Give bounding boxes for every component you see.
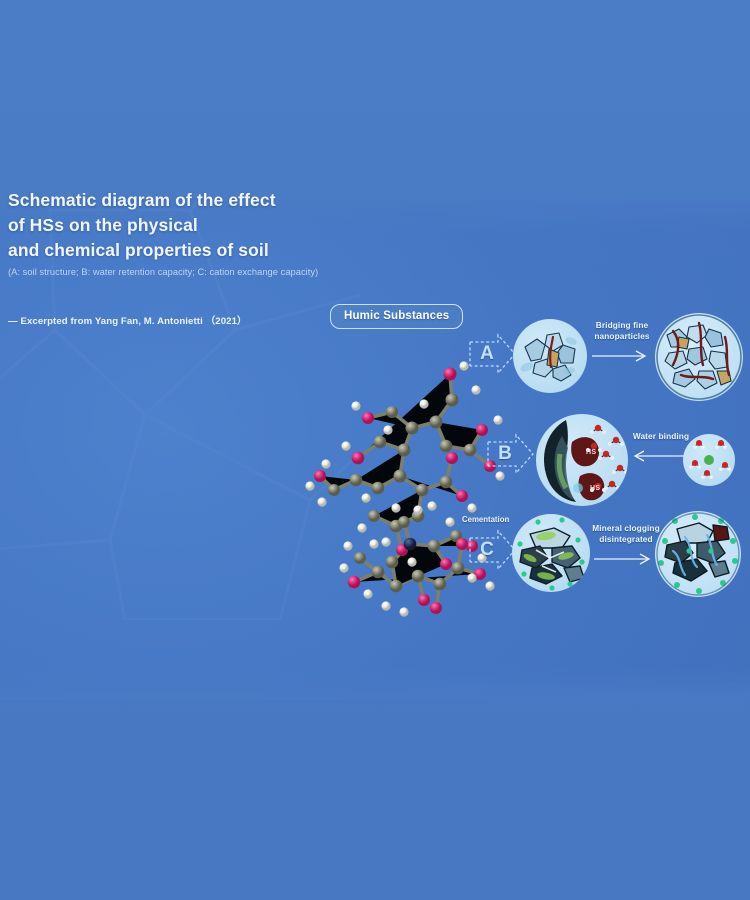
- panel-tag-a-letter: A: [468, 332, 506, 376]
- panel-tag-a: A: [468, 332, 518, 376]
- panel-c-after-circle: [655, 511, 741, 597]
- panel-c-process-label: Mineral clogging disintegrated: [586, 523, 666, 544]
- panel-tag-b-letter: B: [486, 432, 524, 476]
- panel-c-arrow-icon: [594, 551, 656, 567]
- panel-a-before-circle: [513, 319, 587, 393]
- panel-tag-c: C: [468, 528, 518, 572]
- panel-b-before-circle: [683, 434, 735, 486]
- page-title: Schematic diagram of the effect of HSs o…: [8, 188, 338, 263]
- title-line-1: Schematic diagram of the effect: [8, 188, 338, 213]
- panel-tag-b: B: [486, 432, 536, 476]
- panel-tag-c-letter: C: [468, 528, 506, 572]
- cementation-label: Cementation: [462, 515, 509, 524]
- panel-a-after-circle: [655, 313, 743, 401]
- humic-substances-label: Humic Substances: [330, 304, 463, 329]
- text-block: Schematic diagram of the effect of HSs o…: [8, 188, 338, 337]
- hs-mark-1: HS: [586, 449, 596, 456]
- figure-canvas: Schematic diagram of the effect of HSs o…: [0, 0, 750, 900]
- panel-a-arrow-icon: [592, 348, 652, 364]
- figure-subtitle: (A: soil structure; B: water retention c…: [8, 266, 338, 280]
- title-line-3: and chemical properties of soil: [8, 238, 338, 263]
- panel-b-after-circle: [536, 414, 628, 506]
- panel-b-process-label: Water binding: [628, 431, 694, 442]
- attribution-text: — Excerpted from Yang Fan, M. Antonietti…: [8, 313, 338, 327]
- title-line-2: of HSs on the physical: [8, 213, 338, 238]
- panel-c-before-circle: [512, 514, 590, 592]
- panel-a-process-label: Bridging fine nanoparticles: [586, 320, 658, 341]
- hs-mark-2: HS: [590, 485, 600, 492]
- panel-b-arrow-icon: [634, 448, 686, 464]
